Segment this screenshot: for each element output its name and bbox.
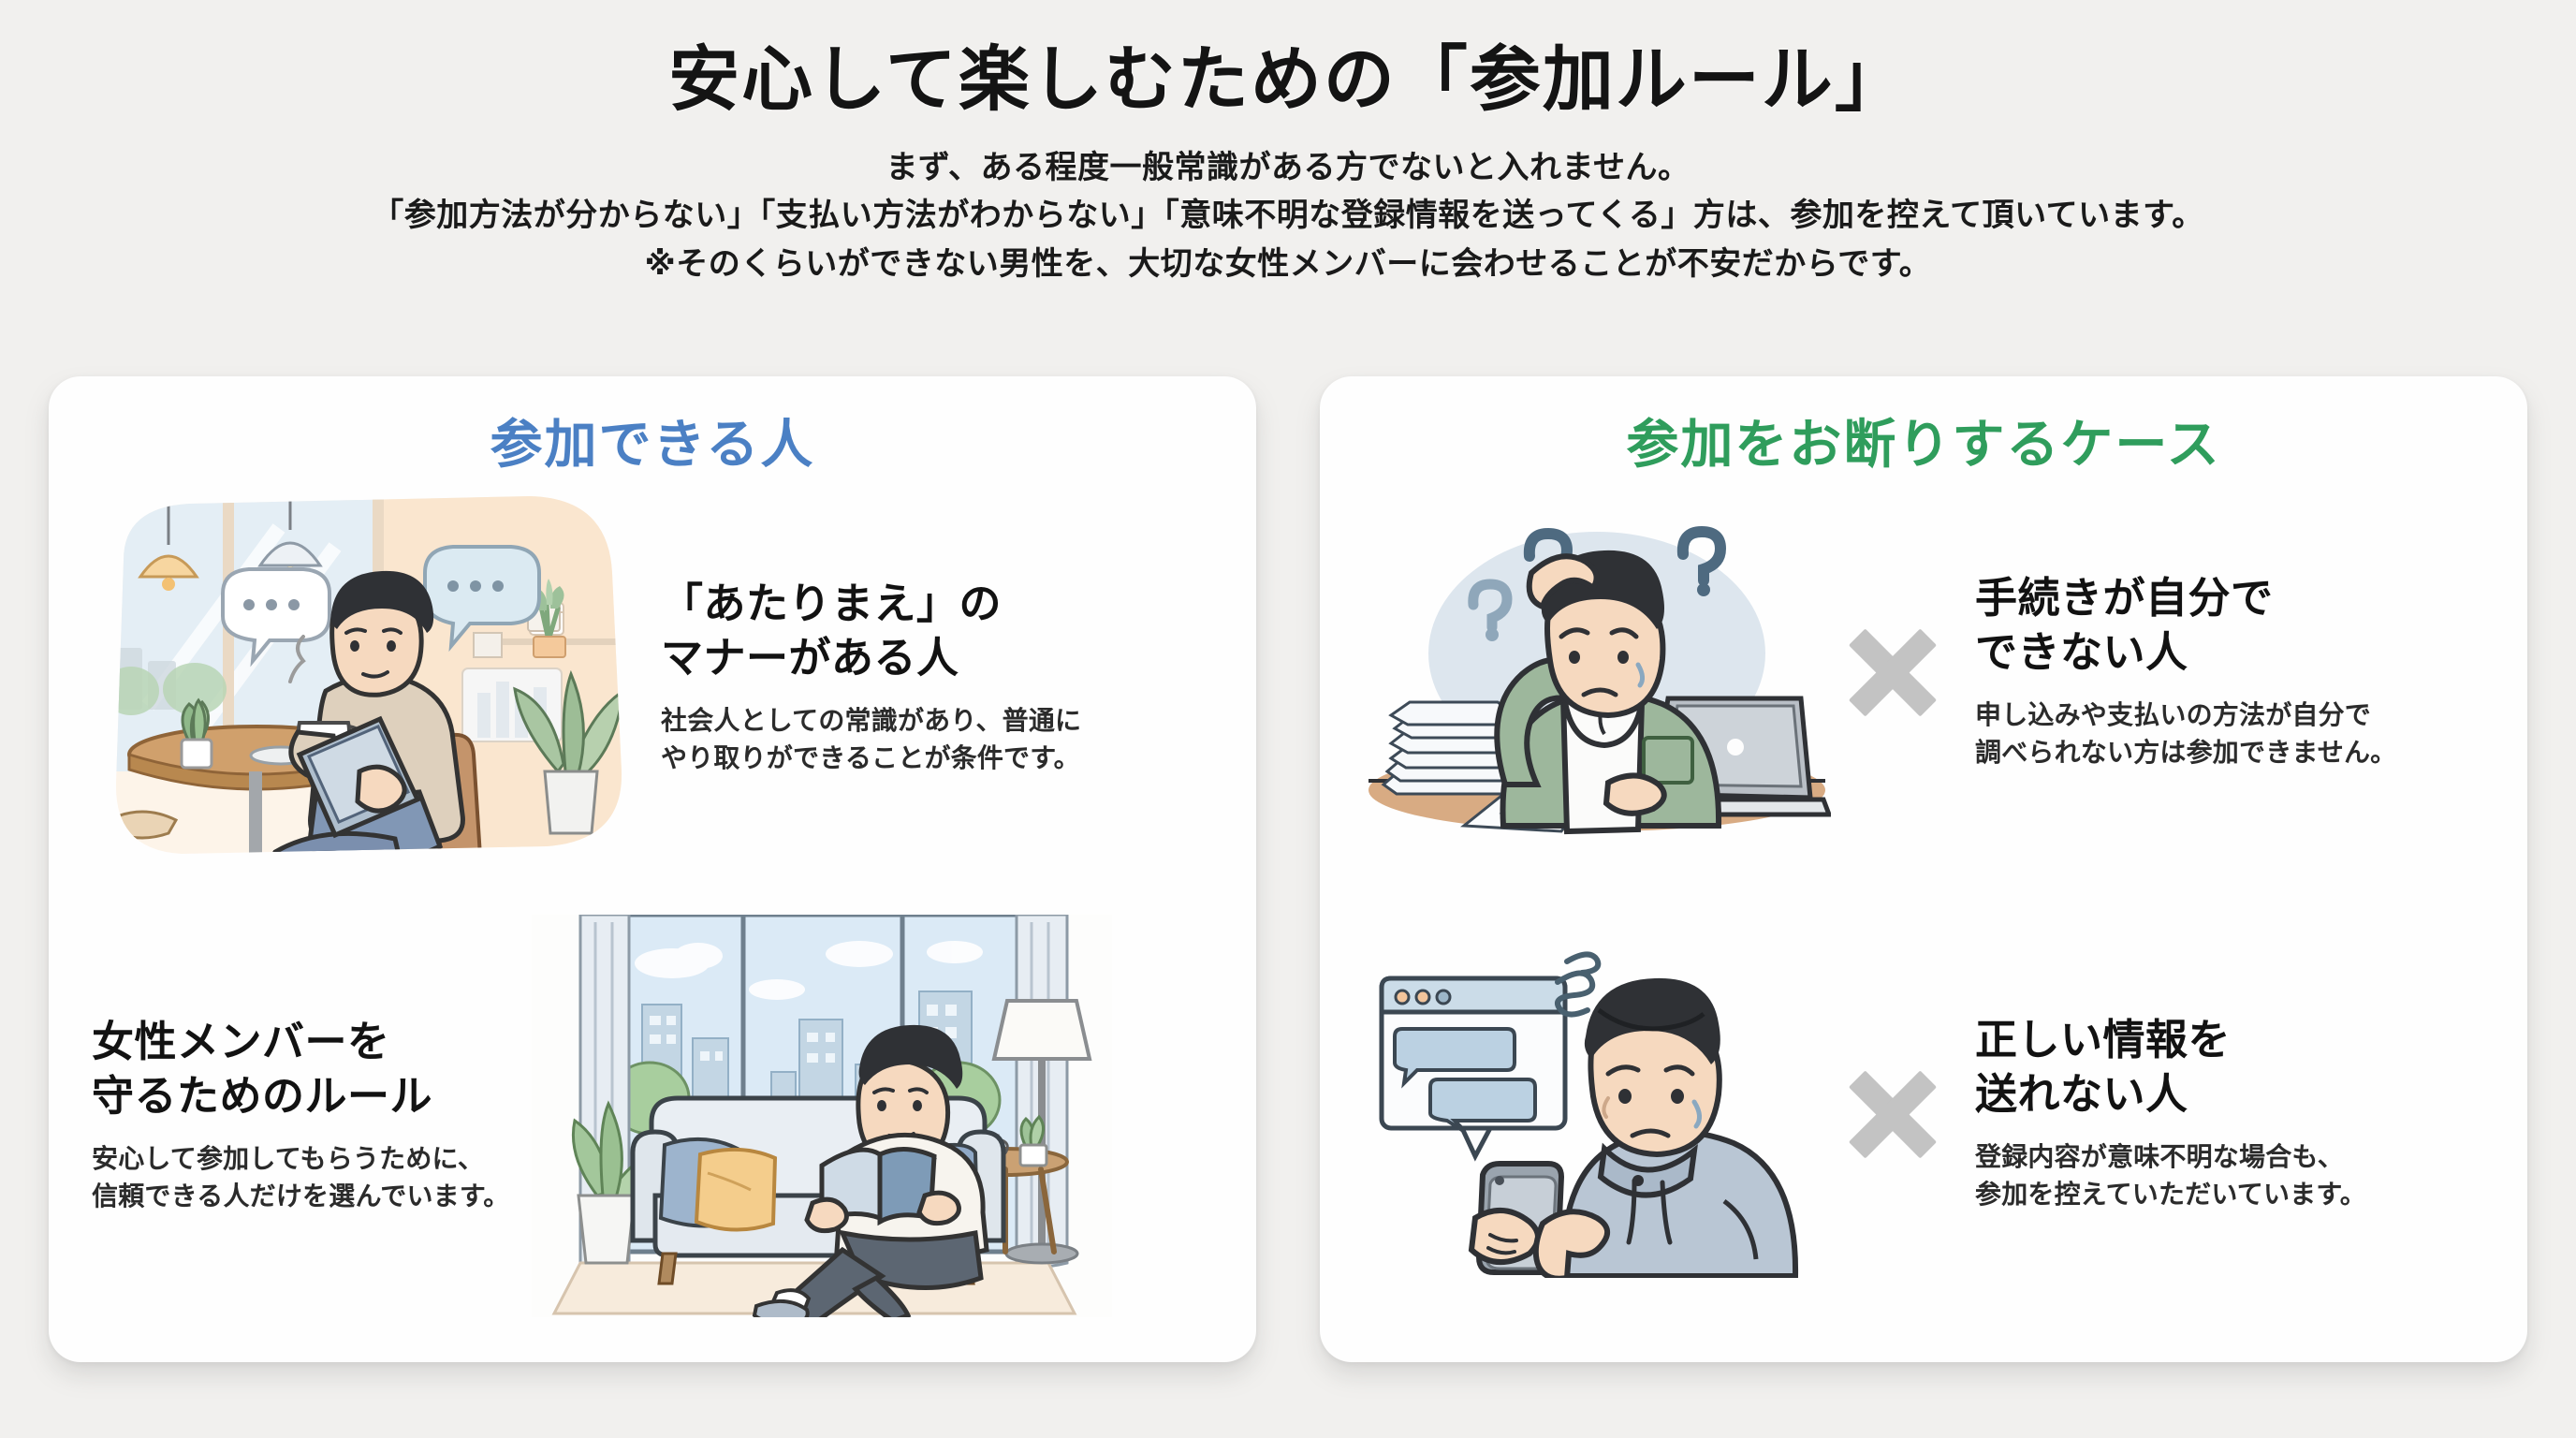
body-line: 登録内容が意味不明な場合も、	[1975, 1138, 2366, 1177]
allowed-item-2-title: 女性メンバーを 守るためのルール	[92, 1015, 509, 1123]
rejected-item-1-text: 手続きが自分で できない人 申し込みや支払いの方法が自分で 調べられない方は参加…	[1975, 571, 2396, 771]
subtitle-line-2: 「参加方法が分からない」「支払い方法がわからない」「意味不明な登録情報を送ってく…	[0, 192, 2576, 241]
title-line: できない人	[1975, 625, 2396, 680]
allowed-item-1-body: 社会人としての常識があり、普通に やり取りができることが条件です。	[661, 702, 1081, 778]
overwhelmed-desk-illustration	[1363, 504, 1831, 841]
body-line: 信頼できる人だけを選んでいます。	[92, 1178, 509, 1216]
title-line: 「あたりまえ」の	[661, 577, 1081, 631]
allowed-item-1-text: 「あたりまえ」の マナーがある人 社会人としての常識があり、普通に やり取りがで…	[661, 577, 1081, 777]
allowed-item-1-title: 「あたりまえ」の マナーがある人	[661, 577, 1081, 684]
body-line: 社会人としての常識があり、普通に	[661, 702, 1081, 741]
title-line: 女性メンバーを	[92, 1015, 509, 1069]
rejected-item-2-text: 正しい情報を 送れない人 登録内容が意味不明な場合も、 参加を控えていただいてい…	[1975, 1013, 2366, 1213]
body-line: 参加を控えていただいています。	[1975, 1176, 2366, 1214]
allowed-item-2-text: 女性メンバーを 守るためのルール 安心して参加してもらうために、 信頼できる人だ…	[92, 1015, 509, 1215]
allowed-item-2: 女性メンバーを 守るためのルール 安心して参加してもらうために、 信頼できる人だ…	[92, 904, 1213, 1328]
x-mark-icon	[1837, 616, 1949, 728]
card-allowed: 参加できる人	[49, 376, 1256, 1362]
title-line: 送れない人	[1975, 1067, 2366, 1122]
smartphone-confusion-illustration	[1363, 950, 1831, 1278]
title-line: 守るためのルール	[92, 1069, 509, 1123]
page-subtitle: まず、ある程度一般常識がある方でないと入れません。 「参加方法が分からない」「支…	[0, 144, 2576, 289]
rules-card-container: 参加できる人	[0, 376, 2576, 1369]
rejected-item-1-body: 申し込みや支払いの方法が自分で 調べられない方は参加できません。	[1975, 697, 2396, 772]
allowed-item-2-body: 安心して参加してもらうために、 信頼できる人だけを選んでいます。	[92, 1140, 509, 1216]
card-allowed-heading: 参加できる人	[92, 416, 1213, 474]
title-line: 手続きが自分で	[1975, 571, 2396, 625]
living-room-illustration	[532, 915, 1112, 1317]
title-line: 正しい情報を	[1975, 1013, 2366, 1067]
title-line: マナーがある人	[661, 631, 1081, 685]
page-header: 安心して楽しむための「参加ルール」 まず、ある程度一般常識がある方でないと入れま…	[0, 0, 2576, 289]
body-line: 申し込みや支払いの方法が自分で	[1975, 697, 2396, 735]
body-line: 調べられない方は参加できません。	[1975, 734, 2396, 772]
rejected-item-2: 正しい情報を 送れない人 登録内容が意味不明な場合も、 参加を控えていただいてい…	[1363, 927, 2484, 1301]
cafe-illustration	[92, 491, 635, 865]
subtitle-line-1: まず、ある程度一般常識がある方でないと入れません。	[0, 144, 2576, 193]
rejected-item-2-body: 登録内容が意味不明な場合も、 参加を控えていただいています。	[1975, 1138, 2366, 1214]
card-rejected-heading: 参加をお断りするケース	[1363, 416, 2484, 474]
page-title: 安心して楽しむための「参加ルール」	[0, 41, 2576, 120]
allowed-item-1: 「あたりまえ」の マナーがある人 社会人としての常識があり、普通に やり取りがで…	[92, 485, 1213, 871]
rejected-item-1: 手続きが自分で できない人 申し込みや支払いの方法が自分で 調べられない方は参加…	[1363, 485, 2484, 859]
rejected-item-2-title: 正しい情報を 送れない人	[1975, 1013, 2366, 1121]
card-rejected: 参加をお断りするケース	[1320, 376, 2527, 1362]
x-mark-icon	[1837, 1058, 1949, 1170]
rejected-item-1-title: 手続きが自分で できない人	[1975, 571, 2396, 679]
body-line: 安心して参加してもらうために、	[92, 1140, 509, 1179]
body-line: やり取りができることが条件です。	[661, 740, 1081, 778]
subtitle-line-3: ※そのくらいができない男性を、大切な女性メンバーに会わせることが不安だからです。	[0, 241, 2576, 289]
